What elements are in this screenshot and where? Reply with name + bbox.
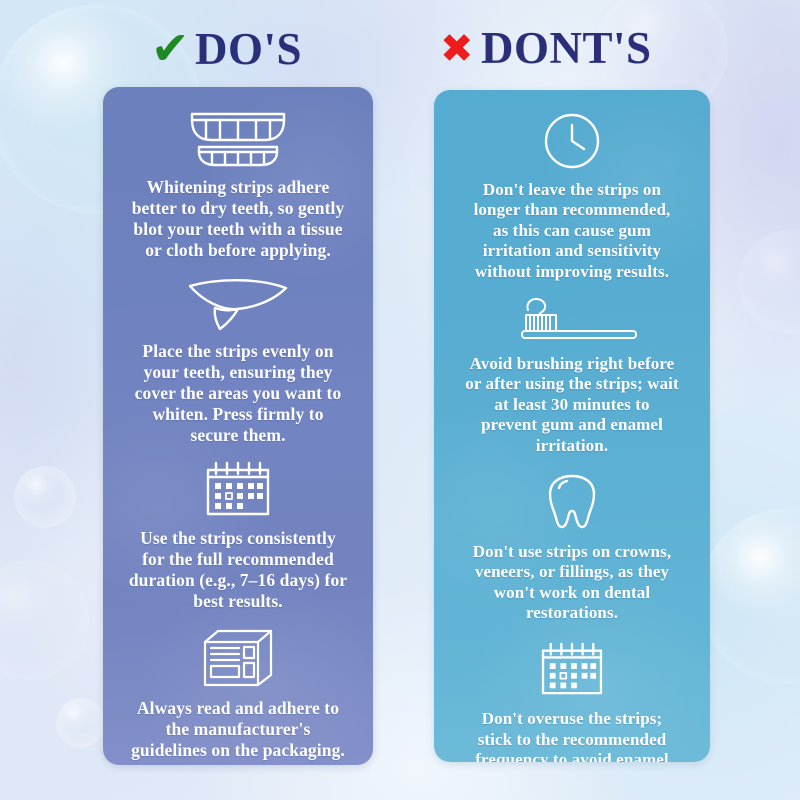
heading-donts: ✖ DONT'S — [440, 26, 652, 71]
bubble-small-bottom — [56, 698, 106, 748]
heading-dos: ✔ DO'S — [151, 26, 302, 72]
package-box-icon — [115, 628, 361, 688]
heading-donts-label: DONT'S — [481, 26, 652, 71]
donts-card: Don't leave the strips on longer than re… — [434, 90, 710, 762]
donts-item-3: Don't use strips on crowns, veneers, or … — [446, 472, 698, 624]
headings-row: ✔ DO'S ✖ DONT'S — [0, 0, 800, 88]
dos-item-1: Whitening strips adhere better to dry te… — [115, 107, 361, 261]
tooth-icon — [446, 472, 698, 530]
cross-mark-icon: ✖ — [440, 29, 474, 69]
dos-item-2: Place the strips evenly on your teeth, e… — [115, 275, 361, 446]
calendar-icon — [115, 460, 361, 518]
donts-item-2: Avoid brushing right before or after usi… — [446, 296, 698, 456]
dos-item-1-text: Whitening strips adhere better to dry te… — [115, 177, 361, 261]
dos-item-4-text: Always read and adhere to the manufactur… — [115, 698, 361, 761]
heading-dos-label: DO'S — [195, 27, 302, 72]
dos-item-4: Always read and adhere to the manufactur… — [115, 628, 361, 761]
teeth-icon — [115, 107, 361, 169]
check-mark-icon: ✔ — [151, 25, 190, 71]
donts-item-2-text: Avoid brushing right before or after usi… — [446, 354, 698, 456]
dos-card: Whitening strips adhere better to dry te… — [103, 87, 373, 765]
donts-item-4-text: Don't overuse the strips; stick to the r… — [446, 709, 698, 762]
donts-item-1: Don't leave the strips on longer than re… — [446, 112, 698, 282]
dos-item-2-text: Place the strips evenly on your teeth, e… — [115, 341, 361, 446]
dos-item-3: Use the strips consistently for the full… — [115, 460, 361, 612]
infographic-canvas: ✔ DO'S ✖ DONT'S — [0, 0, 800, 800]
toothbrush-icon — [446, 296, 698, 344]
donts-item-4: Don't overuse the strips; stick to the r… — [446, 641, 698, 762]
donts-item-3-text: Don't use strips on crowns, veneers, or … — [446, 542, 698, 624]
dos-item-3-text: Use the strips consistently for the full… — [115, 528, 361, 612]
whitening-strip-icon — [115, 275, 361, 333]
donts-item-1-text: Don't leave the strips on longer than re… — [446, 180, 698, 282]
bubble-small-left — [14, 466, 76, 528]
calendar-icon — [446, 641, 698, 697]
clock-icon — [446, 112, 698, 170]
